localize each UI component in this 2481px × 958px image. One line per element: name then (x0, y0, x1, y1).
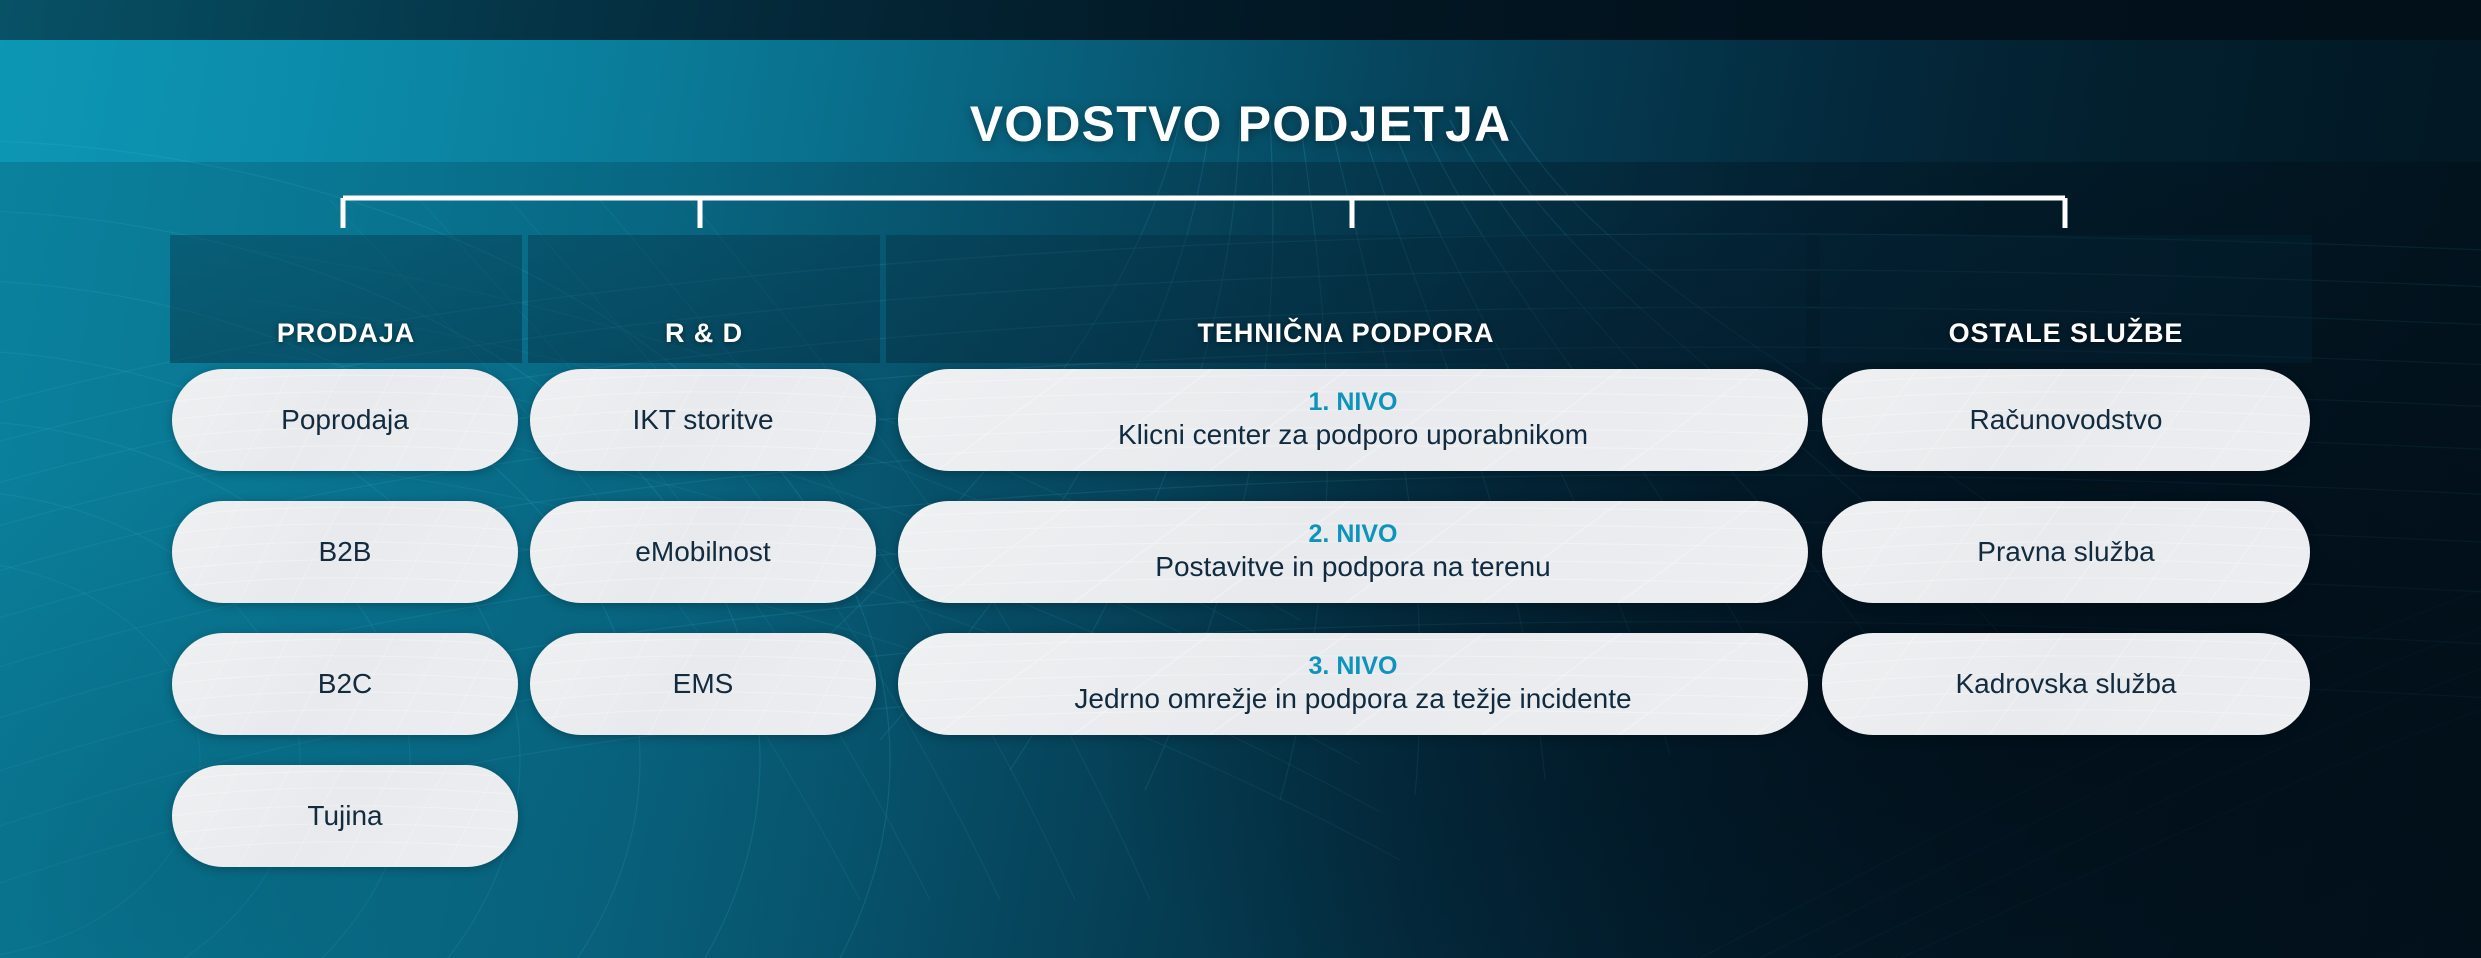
card-label: IKT storitve (632, 404, 773, 436)
card-level-label: 3. NIVO (1309, 653, 1398, 681)
card-item[interactable]: IKT storitve (530, 369, 876, 471)
card-item[interactable]: B2B (172, 501, 518, 603)
card-label: Računovodstvo (1969, 404, 2162, 436)
card-item[interactable]: Kadrovska služba (1822, 633, 2310, 735)
card-description: Klicni center za podporo uporabnikom (1118, 419, 1588, 451)
card-grid: PoprodajaB2BB2CTujinaIKT storitveeMobiln… (0, 0, 2481, 958)
card-level-label: 1. NIVO (1309, 389, 1398, 417)
card-level-label: 2. NIVO (1309, 521, 1398, 549)
card-label: Kadrovska služba (1955, 668, 2176, 700)
card-item[interactable]: Poprodaja (172, 369, 518, 471)
card-label: B2C (318, 668, 372, 700)
card-label: Pravna služba (1977, 536, 2154, 568)
card-description: Jedrno omrežje in podpora za težje incid… (1074, 683, 1631, 715)
card-label: Tujina (307, 800, 382, 832)
card-label: eMobilnost (635, 536, 770, 568)
card-item[interactable]: EMS (530, 633, 876, 735)
card-description: Postavitve in podpora na terenu (1155, 551, 1550, 583)
card-label: B2B (319, 536, 372, 568)
card-item[interactable]: eMobilnost (530, 501, 876, 603)
card-item[interactable]: Pravna služba (1822, 501, 2310, 603)
card-label: EMS (673, 668, 734, 700)
card-item[interactable]: B2C (172, 633, 518, 735)
org-chart-canvas: VODSTVO PODJETJA PRODAJAR & DTEHNIČNA PO… (0, 0, 2481, 958)
card-item[interactable]: 2. NIVOPostavitve in podpora na terenu (898, 501, 1808, 603)
card-label: Poprodaja (281, 404, 409, 436)
card-item[interactable]: Računovodstvo (1822, 369, 2310, 471)
card-item[interactable]: Tujina (172, 765, 518, 867)
card-item[interactable]: 1. NIVOKlicni center za podporo uporabni… (898, 369, 1808, 471)
card-item[interactable]: 3. NIVOJedrno omrežje in podpora za težj… (898, 633, 1808, 735)
